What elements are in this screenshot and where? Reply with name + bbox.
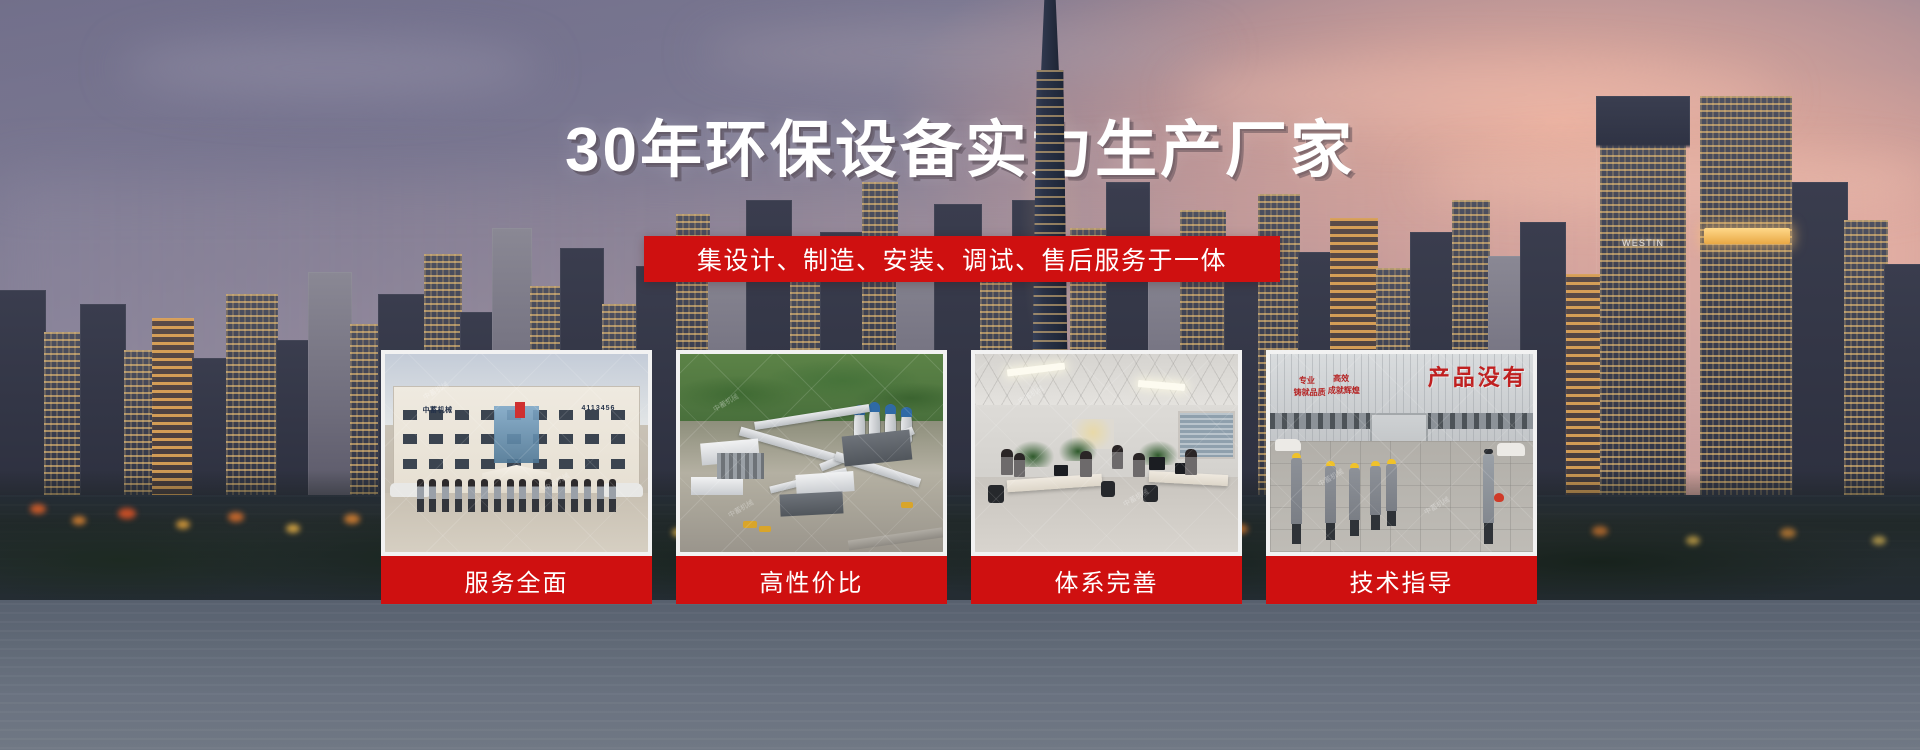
card-caption-text: 服务全面 [465, 563, 569, 598]
factory-wall-slogan-small: 成就辉煌 [1328, 386, 1360, 396]
card-caption-bar: 体系完善 [971, 556, 1242, 604]
card-caption-text: 高性价比 [760, 563, 864, 598]
factory-workers-briefing-photo: 产品没有 高效 成就辉煌 专业 铸就品质 [1266, 350, 1537, 556]
factory-wall-slogan: 产品没有 [1428, 360, 1528, 392]
building-phone-text: 4113456 [582, 405, 616, 412]
feature-card[interactable]: 中蓄机械 中蓄机械 体系完善 [971, 350, 1242, 604]
card-caption-text: 体系完善 [1055, 563, 1159, 598]
hero-banner: WESTIN [0, 0, 1920, 750]
card-caption-bar: 技术指导 [1266, 556, 1537, 604]
factory-wall-slogan-small: 专业 [1299, 376, 1315, 386]
feature-card[interactable]: 产品没有 高效 成就辉煌 专业 铸就品质 [1266, 350, 1537, 604]
building-sign-text: 中蓄机械 [423, 405, 453, 415]
banner-content: 30年环保设备实力生产厂家 集设计、制造、安装、调试、售后服务于一体 [0, 0, 1920, 750]
feature-card[interactable]: 中蓄机械 4113456 中蓄机械 中蓄机械 [381, 350, 652, 604]
factory-wall-slogan-small: 铸就品质 [1294, 388, 1326, 398]
card-caption-bar: 服务全面 [381, 556, 652, 604]
industrial-plant-aerial-photo: 中蓄机械 中蓄机械 [676, 350, 947, 556]
company-headquarters-photo: 中蓄机械 4113456 中蓄机械 中蓄机械 [381, 350, 652, 556]
card-caption-bar: 高性价比 [676, 556, 947, 604]
feature-card[interactable]: 中蓄机械 中蓄机械 高性价比 [676, 350, 947, 604]
office-interior-photo: 中蓄机械 中蓄机械 [971, 350, 1242, 556]
card-caption-text: 技术指导 [1350, 563, 1454, 598]
subtitle-banner: 集设计、制造、安装、调试、售后服务于一体 [644, 236, 1280, 282]
factory-wall-slogan-small: 高效 [1333, 374, 1349, 384]
page-title: 30年环保设备实力生产厂家 [0, 120, 1920, 182]
subtitle-text: 集设计、制造、安装、调试、售后服务于一体 [697, 241, 1227, 277]
feature-card-list: 中蓄机械 4113456 中蓄机械 中蓄机械 [381, 350, 1539, 604]
